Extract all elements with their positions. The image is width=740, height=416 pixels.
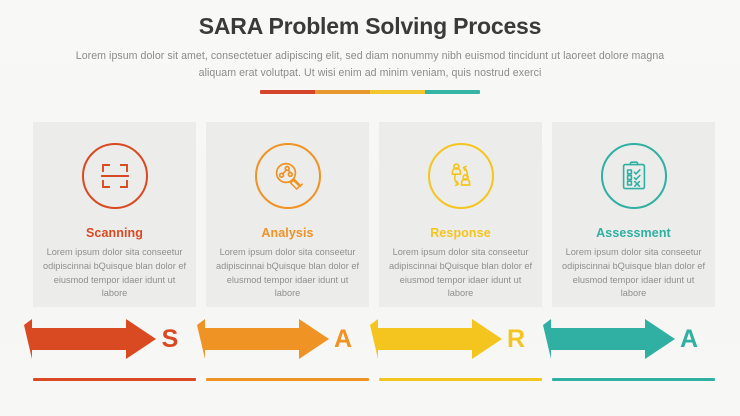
header: SARA Problem Solving Process Lorem ipsum… bbox=[0, 14, 740, 94]
steps-card-row: Scanning Lorem ipsum dolor sita conseetu… bbox=[0, 122, 740, 307]
right-arrow-icon bbox=[22, 317, 158, 361]
clipboard-checklist-icon bbox=[601, 143, 667, 209]
step-title: Analysis bbox=[206, 226, 369, 240]
step-description: Lorem ipsum dolor sita conseetur odipisc… bbox=[43, 246, 186, 301]
arrow-row: S A R A bbox=[0, 313, 740, 373]
step-letter: R bbox=[499, 319, 533, 359]
page-title: SARA Problem Solving Process bbox=[0, 14, 740, 39]
arrow-group-response: R bbox=[368, 313, 541, 365]
people-exchange-icon bbox=[428, 143, 494, 209]
step-title: Scanning bbox=[33, 226, 196, 240]
divider-segment-response bbox=[370, 90, 425, 94]
page-subtitle: Lorem ipsum dolor sit amet, consectetuer… bbox=[60, 48, 680, 81]
bottom-bar-analysis bbox=[206, 378, 369, 381]
scan-frame-icon bbox=[82, 143, 148, 209]
step-card-scanning[interactable]: Scanning Lorem ipsum dolor sita conseetu… bbox=[33, 122, 196, 307]
bottom-bar-row bbox=[0, 378, 740, 384]
step-title: Response bbox=[379, 226, 542, 240]
right-arrow-icon bbox=[195, 317, 331, 361]
bottom-bar-assessment bbox=[552, 378, 715, 381]
step-letter: A bbox=[672, 319, 706, 359]
infographic-canvas: SARA Problem Solving Process Lorem ipsum… bbox=[0, 0, 740, 416]
bottom-bar-response bbox=[379, 378, 542, 381]
step-description: Lorem ipsum dolor sita conseetur adipisc… bbox=[389, 246, 532, 301]
right-arrow-icon bbox=[541, 317, 677, 361]
step-description: Lorem ipsum dolor sita conseetur adipisc… bbox=[216, 246, 359, 301]
arrow-group-assessment: A bbox=[541, 313, 714, 365]
color-divider bbox=[260, 90, 480, 94]
arrow-group-analysis: A bbox=[195, 313, 368, 365]
step-title: Assessment bbox=[552, 226, 715, 240]
divider-segment-scanning bbox=[260, 90, 315, 94]
step-card-response[interactable]: Response Lorem ipsum dolor sita conseetu… bbox=[379, 122, 542, 307]
step-description: Lorem ipsum dolor sita conseetur odipisc… bbox=[562, 246, 705, 301]
right-arrow-icon bbox=[368, 317, 504, 361]
divider-segment-analysis bbox=[315, 90, 370, 94]
bottom-bar-scanning bbox=[33, 378, 196, 381]
step-card-assessment[interactable]: Assessment Lorem ipsum dolor sita consee… bbox=[552, 122, 715, 307]
arrow-group-scanning: S bbox=[22, 313, 195, 365]
step-letter: A bbox=[326, 319, 360, 359]
divider-segment-assessment bbox=[425, 90, 480, 94]
magnifier-network-icon bbox=[255, 143, 321, 209]
step-card-analysis[interactable]: Analysis Lorem ipsum dolor sita conseetu… bbox=[206, 122, 369, 307]
step-letter: S bbox=[153, 319, 187, 359]
